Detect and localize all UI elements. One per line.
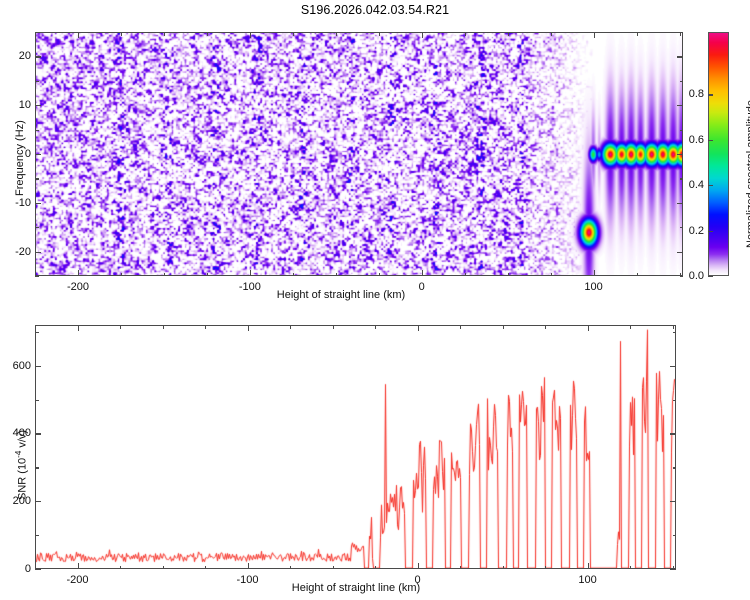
y-tick-label: 20 (5, 50, 31, 62)
x-tick-label: -200 (66, 574, 88, 586)
spectrogram-xlabel: Height of straight line (km) (277, 289, 405, 301)
x-minor-tick (503, 566, 504, 570)
y-tick (35, 366, 41, 367)
y-tick-label: 10 (5, 99, 31, 111)
snr-ylabel-exponent: -4 (14, 451, 23, 458)
y-minor-tick (680, 130, 684, 131)
y-minor-tick (673, 400, 677, 401)
snr-xlabel: Height of straight line (km) (292, 582, 420, 594)
y-tick (677, 105, 683, 106)
x-minor-tick (333, 325, 334, 329)
colorbar-tick-label: 0.4 (684, 179, 704, 191)
y-tick-label: 0 (5, 563, 31, 575)
x-minor-tick (121, 273, 122, 277)
x-minor-tick (460, 325, 461, 329)
x-tick (422, 32, 423, 38)
x-minor-tick (673, 325, 674, 329)
x-tick-label: -200 (67, 281, 89, 293)
y-minor-tick (35, 227, 39, 228)
x-minor-tick (290, 566, 291, 570)
y-tick-label: 600 (5, 360, 31, 372)
x-minor-tick (630, 325, 631, 329)
y-minor-tick (673, 467, 677, 468)
y-tick (35, 569, 41, 570)
spectrogram-ylabel: Frequency (Hz) (14, 120, 26, 196)
y-minor-tick (35, 467, 39, 468)
x-minor-tick (207, 273, 208, 277)
y-minor-tick (35, 32, 39, 33)
x-minor-tick (465, 32, 466, 36)
x-minor-tick (336, 273, 337, 277)
y-tick (670, 433, 676, 434)
x-tick-label: 100 (578, 574, 596, 586)
x-tick (248, 563, 249, 569)
y-minor-tick (680, 81, 684, 82)
y-minor-tick (35, 535, 39, 536)
x-minor-tick (35, 325, 36, 329)
colorbar-tick-label: 0.6 (684, 134, 704, 146)
y-tick (670, 569, 676, 570)
y-tick (677, 154, 683, 155)
x-tick-label: -100 (239, 281, 261, 293)
x-minor-tick (379, 32, 380, 36)
x-minor-tick (164, 273, 165, 277)
y-tick (677, 56, 683, 57)
spectrogram-plot-area (36, 33, 682, 275)
y-minor-tick (35, 178, 39, 179)
x-minor-tick (293, 32, 294, 36)
y-tick (35, 154, 41, 155)
colorbar-tick-label: 0.8 (684, 88, 704, 100)
x-minor-tick (508, 273, 509, 277)
x-minor-tick (637, 273, 638, 277)
x-tick (594, 270, 595, 276)
x-tick (250, 270, 251, 276)
y-minor-tick (680, 178, 684, 179)
x-minor-tick (290, 325, 291, 329)
x-tick (418, 563, 419, 569)
x-minor-tick (120, 325, 121, 329)
x-tick (78, 32, 79, 38)
x-tick-label: 0 (419, 281, 425, 293)
colorbar-tick (708, 140, 713, 141)
x-minor-tick (164, 32, 165, 36)
snr-ylabel-suffix: v/v) (17, 430, 29, 451)
x-minor-tick (545, 566, 546, 570)
x-tick (250, 32, 251, 38)
y-minor-tick (680, 227, 684, 228)
x-minor-tick (120, 566, 121, 570)
x-tick (588, 563, 589, 569)
y-minor-tick (35, 81, 39, 82)
snr-ylabel: SNR (10-4 v/v) (14, 430, 29, 500)
y-tick (35, 105, 41, 106)
y-minor-tick (35, 332, 39, 333)
x-tick (422, 270, 423, 276)
snr-trace (36, 326, 675, 568)
spectrogram-panel (35, 32, 683, 276)
x-minor-tick (205, 325, 206, 329)
spectrogram-image (36, 33, 682, 275)
y-minor-tick (673, 535, 677, 536)
y-tick-label: -20 (5, 246, 31, 258)
colorbar-tick (708, 94, 713, 95)
x-minor-tick (163, 566, 164, 570)
colorbar-tick (708, 185, 713, 186)
x-tick (418, 325, 419, 331)
y-minor-tick (35, 130, 39, 131)
x-minor-tick (293, 273, 294, 277)
y-tick (670, 501, 676, 502)
x-minor-tick (121, 32, 122, 36)
x-minor-tick (637, 32, 638, 36)
x-minor-tick (205, 566, 206, 570)
y-tick-label: -10 (5, 197, 31, 209)
x-tick (78, 325, 79, 331)
x-minor-tick (630, 566, 631, 570)
x-minor-tick (163, 325, 164, 329)
y-tick (670, 366, 676, 367)
y-tick (35, 56, 41, 57)
snr-panel (35, 325, 676, 569)
colorbar-tick (708, 231, 713, 232)
y-minor-tick (35, 400, 39, 401)
y-minor-tick (680, 276, 684, 277)
x-minor-tick (375, 566, 376, 570)
colorbar-tick-label: 0.0 (684, 270, 704, 282)
x-minor-tick (465, 273, 466, 277)
colorbar (708, 32, 729, 276)
x-minor-tick (551, 273, 552, 277)
x-minor-tick (545, 325, 546, 329)
y-minor-tick (673, 332, 677, 333)
y-tick (35, 501, 41, 502)
y-tick (35, 433, 41, 434)
colorbar-gradient (708, 32, 729, 276)
colorbar-label: Normalized spectral amplitude (745, 100, 750, 248)
y-tick (677, 252, 683, 253)
x-minor-tick (333, 566, 334, 570)
y-minor-tick (680, 32, 684, 33)
x-tick (588, 325, 589, 331)
x-tick (248, 325, 249, 331)
snr-ylabel-prefix: SNR (10 (17, 458, 29, 500)
page-title: S196.2026.042.03.54.R21 (0, 3, 750, 17)
colorbar-tick (708, 276, 713, 277)
y-minor-tick (35, 276, 39, 277)
y-tick (35, 203, 41, 204)
x-tick (78, 563, 79, 569)
x-minor-tick (460, 566, 461, 570)
y-tick (35, 252, 41, 253)
x-tick (594, 32, 595, 38)
x-tick-label: -100 (237, 574, 259, 586)
x-tick-label: 100 (584, 281, 602, 293)
colorbar-tick-label: 0.2 (684, 225, 704, 237)
y-tick (677, 203, 683, 204)
x-minor-tick (508, 32, 509, 36)
x-minor-tick (375, 325, 376, 329)
x-minor-tick (503, 325, 504, 329)
x-minor-tick (207, 32, 208, 36)
x-minor-tick (379, 273, 380, 277)
figure-root: S196.2026.042.03.54.R21 -200-1000100-20-… (0, 0, 750, 600)
x-minor-tick (336, 32, 337, 36)
x-minor-tick (551, 32, 552, 36)
x-tick (78, 270, 79, 276)
snr-plot-area (36, 326, 675, 568)
